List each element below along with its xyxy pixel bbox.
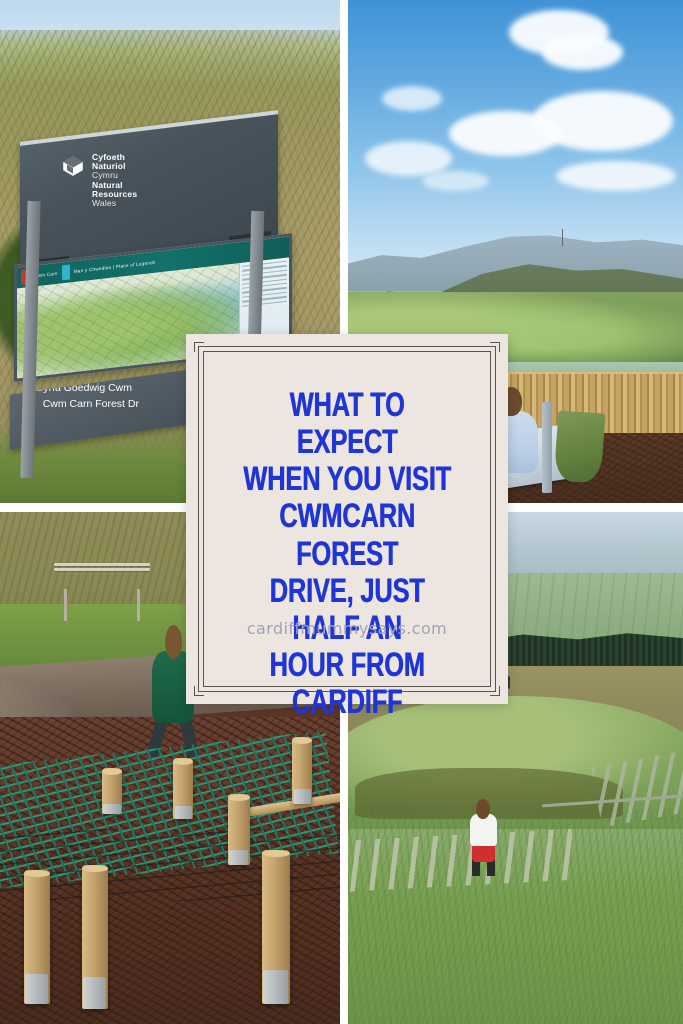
board-title-label: Man y Chwedlau | Place of Legends — [73, 260, 155, 274]
nrw-branding: Cyfoeth Naturiol Cymru Natural Resources… — [62, 153, 138, 208]
nrw-english-1: Natural — [93, 180, 138, 189]
site-url[interactable]: cardiffmummysays.com — [212, 619, 482, 638]
wooden-post — [173, 758, 193, 819]
board-icon — [61, 265, 69, 281]
wooden-post — [24, 870, 50, 1003]
overlay-content: WHAT TO EXPECT WHEN YOU VISIT CWMCARN FO… — [212, 364, 482, 674]
slide-rail — [542, 402, 552, 493]
nrw-hexagon-logo — [62, 154, 86, 178]
cloud — [382, 86, 442, 111]
corner-notch-top-right-icon — [490, 342, 500, 352]
wooden-post — [262, 850, 290, 1004]
cloud — [422, 171, 489, 191]
text-overlay-card: WHAT TO EXPECT WHEN YOU VISIT CWMCARN FO… — [186, 334, 508, 704]
cloud — [542, 35, 622, 70]
cloud — [556, 161, 677, 191]
wooden-post — [102, 768, 122, 814]
hilltop-mast — [562, 229, 563, 247]
wooden-post — [292, 737, 312, 804]
picnic-bench — [54, 563, 149, 609]
pin-headline: WHAT TO EXPECT WHEN YOU VISIT CWMCARN FO… — [236, 386, 457, 720]
nrw-welsh-3: Cymru — [93, 171, 138, 180]
nrw-wordmark: Cyfoeth Naturiol Cymru Natural Resources… — [93, 153, 138, 208]
cloud — [532, 91, 673, 151]
corner-notch-bottom-right-icon — [490, 686, 500, 696]
nrw-english-3: Wales — [93, 199, 138, 208]
pinterest-pin: Cyfoeth Naturiol Cymru Natural Resources… — [0, 0, 683, 1024]
corner-notch-bottom-left-icon — [194, 686, 204, 696]
corner-notch-top-left-icon — [194, 342, 204, 352]
wooden-post — [228, 794, 250, 866]
wooden-post — [82, 865, 108, 1008]
child-on-steps — [469, 799, 499, 876]
cloud — [365, 141, 452, 176]
